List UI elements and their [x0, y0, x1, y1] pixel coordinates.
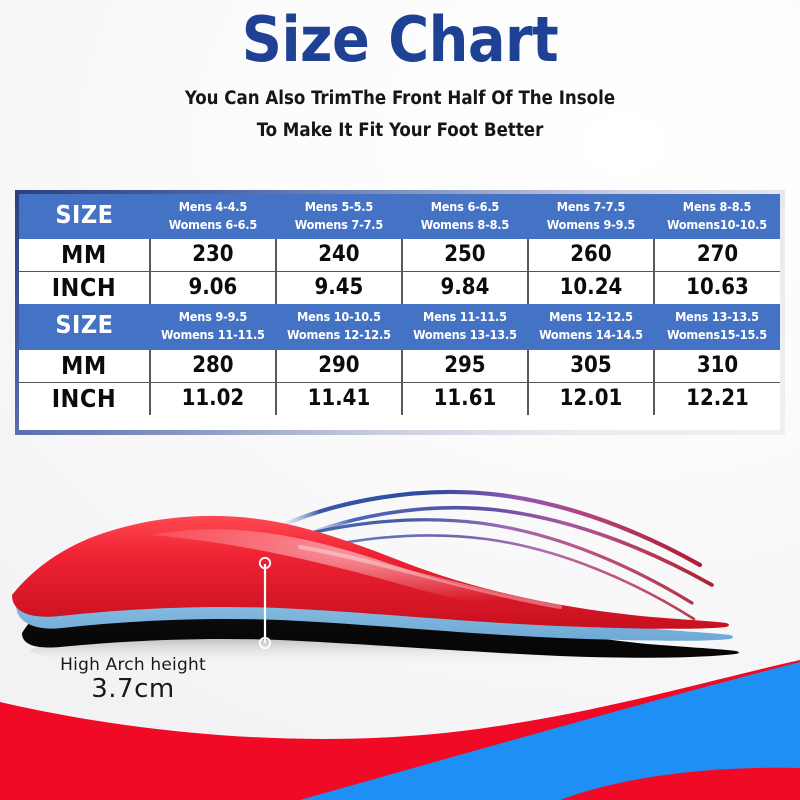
size-column-header: Mens 10-10.5 Womens 12-12.5: [276, 304, 402, 349]
cell-mm: 240: [276, 239, 402, 272]
cell-mm: 260: [528, 239, 654, 272]
cell-mm: 230: [150, 239, 276, 272]
cell-inch: 12.21: [654, 382, 780, 415]
banner-red-bottom: [560, 768, 800, 800]
size-column-header: Mens 7-7.5 Womens 9-9.5: [528, 194, 654, 239]
womens-size-label: Womens 9-9.5: [529, 216, 653, 234]
table-header-row: SIZE Mens 4-4.5 Womens 6-6.5 Mens 5-5.5 …: [19, 194, 780, 239]
subtitle-line-2: To Make It Fit Your Foot Better: [0, 120, 800, 141]
mens-size-label: Mens 12-12.5: [529, 308, 653, 326]
size-table-frame: SIZE Mens 4-4.5 Womens 6-6.5 Mens 5-5.5 …: [15, 190, 785, 435]
size-column-header: Mens 12-12.5 Womens 14-14.5: [528, 304, 654, 349]
size-column-header: Mens 4-4.5 Womens 6-6.5: [150, 194, 276, 239]
womens-size-label: Womens 7-7.5: [277, 216, 401, 234]
cell-mm: 295: [402, 350, 528, 383]
womens-size-label: Womens 8-8.5: [403, 216, 527, 234]
table-row-mm: MM 230 240 250 260 270: [19, 239, 780, 272]
size-column-header: Mens 13-13.5 Womens15-15.5: [654, 304, 780, 349]
mens-size-label: Mens 10-10.5: [277, 308, 401, 326]
row-label-mm: MM: [19, 350, 150, 383]
cell-inch: 11.61: [402, 382, 528, 415]
cell-inch: 11.41: [276, 382, 402, 415]
table-row-inch: INCH 9.06 9.45 9.84 10.24 10.63: [19, 272, 780, 305]
cell-inch: 10.24: [528, 272, 654, 305]
arch-height-value: 3.7cm: [0, 674, 533, 704]
table-row-mm: MM 280 290 295 305 310: [19, 350, 780, 383]
mens-size-label: Mens 6-6.5: [403, 198, 527, 216]
size-column-header: Mens 6-6.5 Womens 8-8.5: [402, 194, 528, 239]
size-header-label: SIZE: [19, 194, 150, 239]
size-chart-page: Size Chart You Can Also TrimThe Front Ha…: [0, 0, 800, 800]
womens-size-label: Womens15-15.5: [655, 326, 779, 344]
subtitle-line-1: You Can Also TrimThe Front Half Of The I…: [0, 88, 800, 109]
cell-mm: 250: [402, 239, 528, 272]
womens-size-label: Womens 6-6.5: [151, 216, 275, 234]
cell-mm: 310: [654, 350, 780, 383]
womens-size-label: Womens10-10.5: [655, 216, 779, 234]
cell-inch: 9.06: [150, 272, 276, 305]
size-column-header: Mens 11-11.5 Womens 13-13.5: [402, 304, 528, 349]
mens-size-label: Mens 13-13.5: [655, 308, 779, 326]
size-column-header: Mens 5-5.5 Womens 7-7.5: [276, 194, 402, 239]
mens-size-label: Mens 8-8.5: [655, 198, 779, 216]
size-header-label: SIZE: [19, 304, 150, 349]
table-row-inch: INCH 11.02 11.41 11.61 12.01 12.21: [19, 382, 780, 415]
cell-inch: 11.02: [150, 382, 276, 415]
mens-size-label: Mens 4-4.5: [151, 198, 275, 216]
womens-size-label: Womens 12-12.5: [277, 326, 401, 344]
row-label-inch: INCH: [19, 272, 150, 305]
cell-mm: 280: [150, 350, 276, 383]
cell-inch: 12.01: [528, 382, 654, 415]
size-table-1: SIZE Mens 4-4.5 Womens 6-6.5 Mens 5-5.5 …: [19, 194, 780, 304]
mens-size-label: Mens 11-11.5: [403, 308, 527, 326]
size-table-block-2: SIZE Mens 9-9.5 Womens 11-11.5 Mens 10-1…: [19, 304, 780, 414]
size-column-header: Mens 9-9.5 Womens 11-11.5: [150, 304, 276, 349]
page-title: Size Chart: [0, 4, 800, 75]
cell-mm: 290: [276, 350, 402, 383]
cell-mm: 305: [528, 350, 654, 383]
cell-inch: 10.63: [654, 272, 780, 305]
arch-height-label: High Arch height: [0, 655, 533, 675]
size-column-header: Mens 8-8.5 Womens10-10.5: [654, 194, 780, 239]
mens-size-label: Mens 9-9.5: [151, 308, 275, 326]
womens-size-label: Womens 13-13.5: [403, 326, 527, 344]
row-label-inch: INCH: [19, 382, 150, 415]
size-table-inner: SIZE Mens 4-4.5 Womens 6-6.5 Mens 5-5.5 …: [19, 194, 780, 430]
cell-mm: 270: [654, 239, 780, 272]
mens-size-label: Mens 5-5.5: [277, 198, 401, 216]
row-label-mm: MM: [19, 239, 150, 272]
womens-size-label: Womens 11-11.5: [151, 326, 275, 344]
cell-inch: 9.84: [402, 272, 528, 305]
cell-inch: 9.45: [276, 272, 402, 305]
size-table-2: SIZE Mens 9-9.5 Womens 11-11.5 Mens 10-1…: [19, 304, 780, 414]
mens-size-label: Mens 7-7.5: [529, 198, 653, 216]
size-table-block-1: SIZE Mens 4-4.5 Womens 6-6.5 Mens 5-5.5 …: [19, 194, 780, 304]
table-header-row: SIZE Mens 9-9.5 Womens 11-11.5 Mens 10-1…: [19, 304, 780, 349]
womens-size-label: Womens 14-14.5: [529, 326, 653, 344]
